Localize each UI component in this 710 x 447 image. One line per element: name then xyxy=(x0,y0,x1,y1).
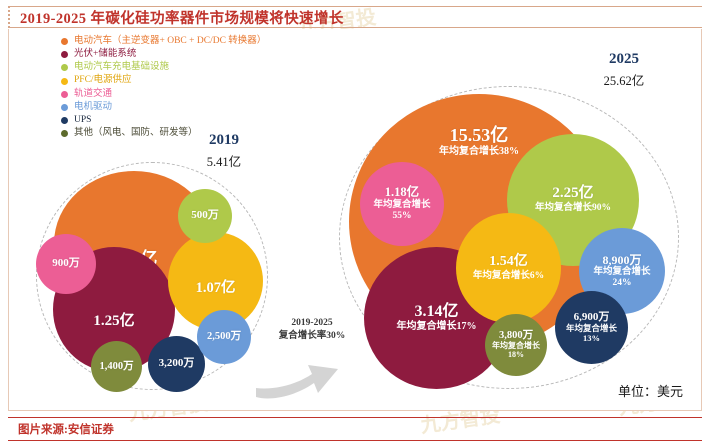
source-footer: 图片来源:安信证券 xyxy=(8,417,702,441)
bubble-value: 1.18亿 xyxy=(385,186,419,199)
bubble-2025-others[interactable]: 3,800万 年均复合增长18% xyxy=(485,314,547,376)
bubble-growth: 年均复合增长18% xyxy=(485,342,547,360)
legend-item-label: 电动汽车（主逆变器+ OBC + DC/DC 转换器） xyxy=(74,37,266,47)
chart-page: 九方智投 九方智投 九方智投 九方智投 九方智投 2019-2025 年碳化硅功… xyxy=(0,0,710,447)
legend-item-label: UPS xyxy=(74,116,91,126)
legend-item: 轨道交通 xyxy=(61,88,351,101)
bubble-value: 8,900万 xyxy=(602,254,641,267)
legend-swatch-icon xyxy=(61,91,68,98)
legend-swatch-icon xyxy=(61,104,68,111)
cluster-header-2019: 2019 5.41亿 xyxy=(169,132,279,170)
chart-title-bar: 2019-2025 年碳化硅功率器件市场规模将快速增长 xyxy=(8,6,702,28)
bubble-value: 3,800万 xyxy=(499,330,533,341)
cluster-year-label: 2025 xyxy=(569,51,679,68)
legend-swatch-icon xyxy=(61,51,68,58)
bubble-growth: 年均复合增长38% xyxy=(439,146,519,157)
bubble-2025-rail[interactable]: 1.18亿 年均复合增长55% xyxy=(360,162,444,246)
legend-item: 光伏+储能系统 xyxy=(61,48,351,61)
legend-swatch-icon xyxy=(61,64,68,71)
cluster-total-label: 25.62亿 xyxy=(569,70,679,89)
bubble-2019-ups[interactable]: 3,200万 xyxy=(148,336,205,392)
cluster-header-2025: 2025 25.62亿 xyxy=(569,51,679,89)
bubble-growth: 年均复合增长17% xyxy=(397,321,477,332)
legend-item: PFC/电源供应 xyxy=(61,75,351,88)
legend-swatch-icon xyxy=(61,117,68,124)
bubble-growth: 年均复合增长90% xyxy=(535,203,611,214)
bubble-value: 1,400万 xyxy=(99,361,133,372)
bubble-2019-ev-charging[interactable]: 500万 xyxy=(178,189,232,243)
cluster-year-label: 2019 xyxy=(169,132,279,149)
unit-note: 单位：美元 xyxy=(618,381,683,400)
legend-item: UPS xyxy=(61,114,351,127)
growth-arrow-icon xyxy=(252,343,372,403)
legend-swatch-icon xyxy=(61,130,68,137)
bubble-value: 2,500万 xyxy=(207,331,241,342)
bubble-2019-motor-drive[interactable]: 2,500万 xyxy=(197,310,251,364)
bubble-2025-pfc[interactable]: 1.54亿 年均复合增长6% xyxy=(456,213,561,323)
legend: 电动汽车（主逆变器+ OBC + DC/DC 转换器） 光伏+储能系统 电动汽车… xyxy=(61,35,351,141)
bubble-growth: 年均复合增长6% xyxy=(473,271,544,282)
page-title: 2019-2025 年碳化硅功率器件市场规模将快速增长 xyxy=(10,7,344,28)
bubble-value: 3.14亿 xyxy=(414,304,458,321)
legend-item-label: 电机驱动 xyxy=(74,103,112,113)
bubble-value: 3,200万 xyxy=(159,358,195,370)
bubble-value: 6,900万 xyxy=(574,312,610,324)
legend-swatch-icon xyxy=(61,78,68,85)
bubble-2019-others[interactable]: 1,400万 xyxy=(91,341,142,392)
bubble-growth: 年均复合增长13% xyxy=(555,324,628,343)
legend-item: 电动汽车（主逆变器+ OBC + DC/DC 转换器） xyxy=(61,35,351,48)
legend-item: 电机驱动 xyxy=(61,101,351,114)
bubble-value: 15.53亿 xyxy=(450,126,509,145)
bubble-2025-ups[interactable]: 6,900万 年均复合增长13% xyxy=(555,291,628,364)
growth-arrow-line2: 复合增长率30% xyxy=(252,330,372,343)
bubble-value: 1.54亿 xyxy=(489,255,528,270)
bubble-2019-rail[interactable]: 900万 xyxy=(36,234,96,294)
legend-item: 电动汽车充电基础设施 xyxy=(61,61,351,74)
growth-arrow-line1: 2019-2025 xyxy=(252,317,372,330)
growth-arrow-label: 2019-2025 复合增长率30% xyxy=(252,317,372,343)
growth-arrow-annotation: 2019-2025 复合增长率30% xyxy=(252,317,372,402)
bubble-value: 1.07亿 xyxy=(196,281,236,296)
bubble-growth: 年均复合增长55% xyxy=(360,200,444,221)
bubble-growth: 年均复合增长24% xyxy=(579,267,665,288)
chart-panel: 电动汽车（主逆变器+ OBC + DC/DC 转换器） 光伏+储能系统 电动汽车… xyxy=(8,29,702,411)
legend-item-label: 光伏+储能系统 xyxy=(74,50,136,60)
legend-item-label: PFC/电源供应 xyxy=(74,76,132,86)
bubble-value: 900万 xyxy=(52,258,80,270)
bubble-value: 1.25亿 xyxy=(93,314,134,330)
legend-item-label: 轨道交通 xyxy=(74,90,112,100)
bubble-value: 500万 xyxy=(191,210,219,222)
legend-item-label: 电动汽车充电基础设施 xyxy=(74,63,169,73)
legend-swatch-icon xyxy=(61,38,68,45)
bubble-value: 2.25亿 xyxy=(552,186,593,202)
source-label: 图片来源:安信证券 xyxy=(8,421,114,437)
